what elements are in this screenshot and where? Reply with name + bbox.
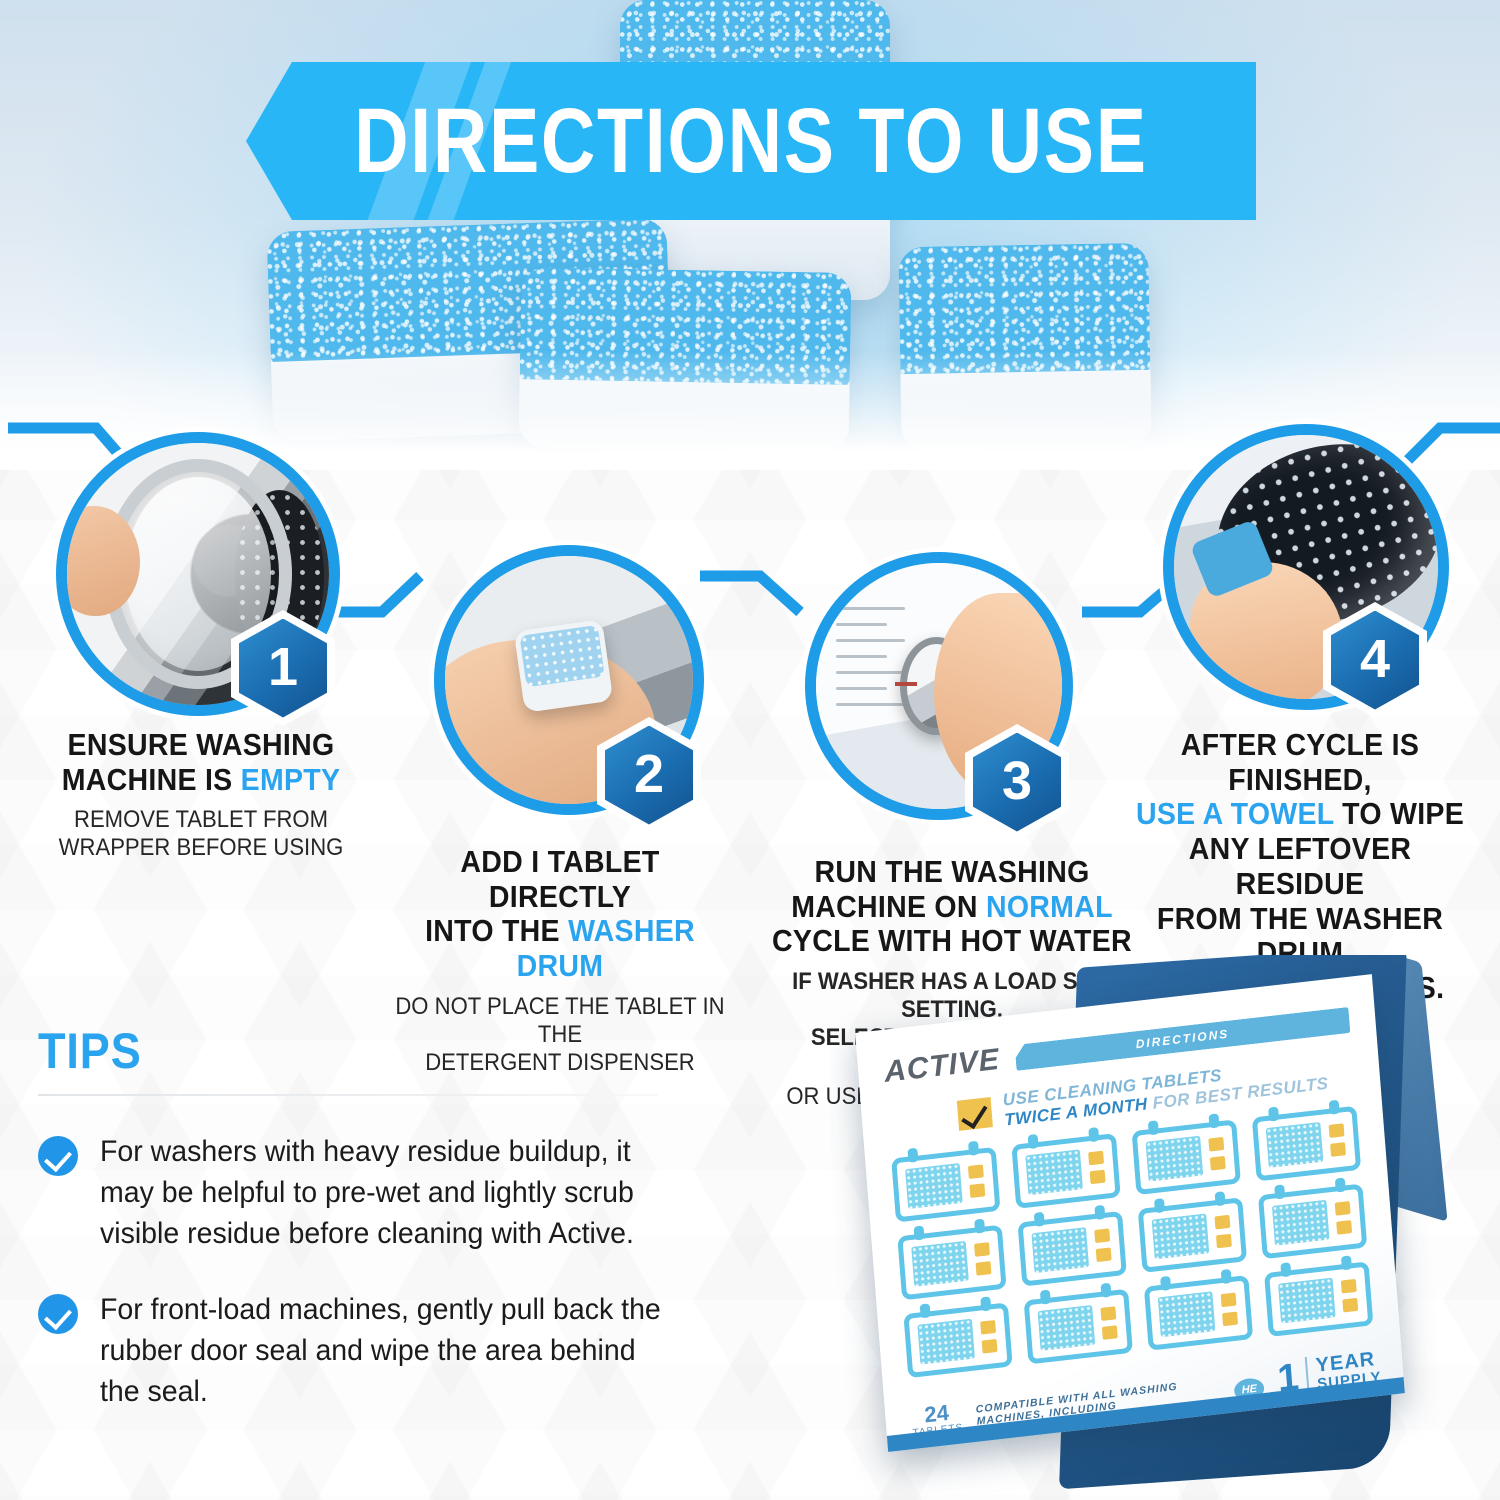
page-title: DIRECTIONS TO USE xyxy=(354,89,1148,194)
calendar-cell xyxy=(1264,1261,1373,1337)
step-2: 2 xyxy=(434,545,704,815)
calendar-cell xyxy=(1258,1184,1367,1260)
tip-item: For washers with heavy residue buildup, … xyxy=(38,1132,698,1254)
step-1-caption: ENSURE WASHING MACHINE IS EMPTY REMOVE T… xyxy=(36,728,366,862)
tip-text: For washers with heavy residue buildup, … xyxy=(100,1132,668,1254)
tip-item: For front-load machines, gently pull bac… xyxy=(38,1290,698,1412)
step-3-number: 3 xyxy=(973,733,1061,832)
calendar-cell xyxy=(1017,1211,1126,1287)
step-1: 1 xyxy=(56,432,340,716)
step-3-heading: RUN THE WASHING MACHINE ON NORMAL CYCLE … xyxy=(768,855,1136,959)
step-1-heading: ENSURE WASHING MACHINE IS EMPTY xyxy=(49,728,353,797)
step-1-subtext: REMOVE TABLET FROM WRAPPER BEFORE USING xyxy=(49,806,353,862)
header-banner: DIRECTIONS TO USE xyxy=(246,62,1256,220)
box-insert-card: ACTIVE DIRECTIONS USE CLEANING TABLETS T… xyxy=(855,974,1405,1452)
step-3: 3 xyxy=(805,552,1073,820)
calendar-grid xyxy=(891,1106,1373,1378)
infographic-page: DIRECTIONS TO USE 1 ENSURE WASHING MACHI… xyxy=(0,0,1500,1500)
calendar-cell xyxy=(1132,1120,1241,1196)
check-icon xyxy=(38,1136,78,1176)
calendar-cell xyxy=(1024,1289,1133,1365)
calendar-cell xyxy=(1011,1133,1120,1209)
checkbox-icon xyxy=(957,1097,993,1131)
step-2-heading: ADD I TABLET DIRECTLY INTO THE WASHER DR… xyxy=(385,845,735,984)
calendar-cell xyxy=(1252,1106,1361,1182)
calendar-cell xyxy=(897,1225,1006,1301)
calendar-cell xyxy=(891,1147,1000,1223)
calendar-cell xyxy=(1138,1197,1247,1273)
check-icon xyxy=(38,1294,78,1334)
tips-title: TIPS xyxy=(38,1022,632,1080)
calendar-cell xyxy=(903,1303,1012,1379)
tip-text: For front-load machines, gently pull bac… xyxy=(100,1290,668,1412)
tips-section: TIPS For washers with heavy residue buil… xyxy=(38,1022,698,1413)
calendar-cell xyxy=(1144,1275,1253,1351)
step-2-number: 2 xyxy=(605,726,693,825)
brand-logo: ACTIVE xyxy=(883,1043,1001,1090)
tips-divider xyxy=(38,1094,658,1096)
step-4: 4 xyxy=(1163,424,1449,710)
step-1-number: 1 xyxy=(239,619,327,718)
step-4-number: 4 xyxy=(1331,611,1419,710)
product-box: ACTIVE DIRECTIONS USE CLEANING TABLETS T… xyxy=(830,955,1500,1500)
